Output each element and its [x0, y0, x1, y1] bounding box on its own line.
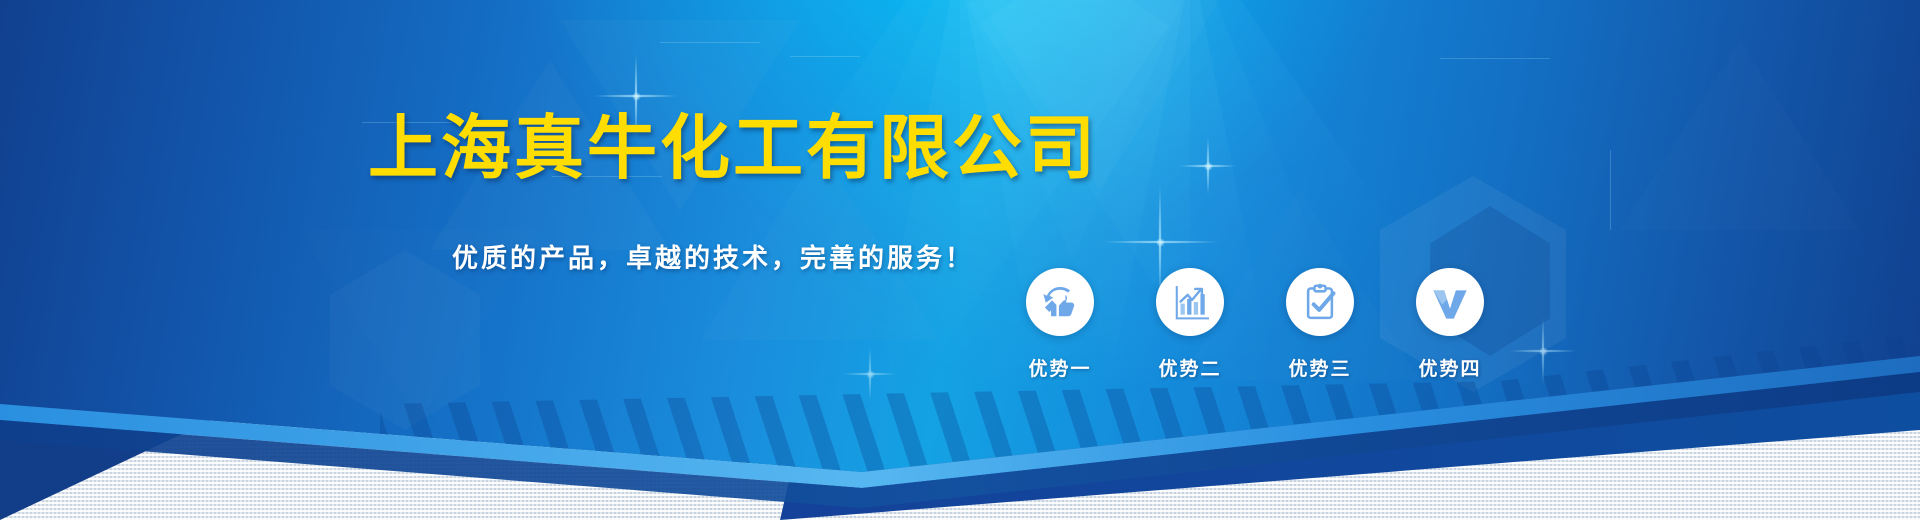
advantage-icon-circle-3[interactable] [1286, 268, 1354, 336]
company-hero-banner: 上海真牛化工有限公司 优质的产品，卓越的技术，完善的服务！ 优势一 [0, 0, 1920, 520]
advantage-icon-circle-4[interactable] [1416, 268, 1484, 336]
clipboard-check-icon [1301, 283, 1339, 321]
advantage-item-3[interactable]: 优势三 [1276, 268, 1364, 381]
advantage-item-4[interactable]: 优势四 [1406, 268, 1494, 381]
advantages-list: 优势一 优势二 [1016, 268, 1494, 381]
bar-chart-growth-icon [1171, 283, 1209, 321]
advantage-label-2: 优势二 [1158, 354, 1221, 381]
advantage-item-2[interactable]: 优势二 [1146, 268, 1234, 381]
advantage-label-4: 优势四 [1418, 354, 1481, 381]
advantage-label-3: 优势三 [1288, 354, 1351, 381]
v-badge-icon [1430, 282, 1470, 322]
advantage-icon-circle-2[interactable] [1156, 268, 1224, 336]
refresh-thumbs-up-icon [1041, 283, 1079, 321]
advantage-icon-circle-1[interactable] [1026, 268, 1094, 336]
advantage-label-1: 优势一 [1028, 354, 1091, 381]
page-subtitle: 优质的产品，卓越的技术，完善的服务！ [452, 238, 974, 275]
page-title: 上海真牛化工有限公司 [368, 92, 1098, 193]
advantage-item-1[interactable]: 优势一 [1016, 268, 1104, 381]
